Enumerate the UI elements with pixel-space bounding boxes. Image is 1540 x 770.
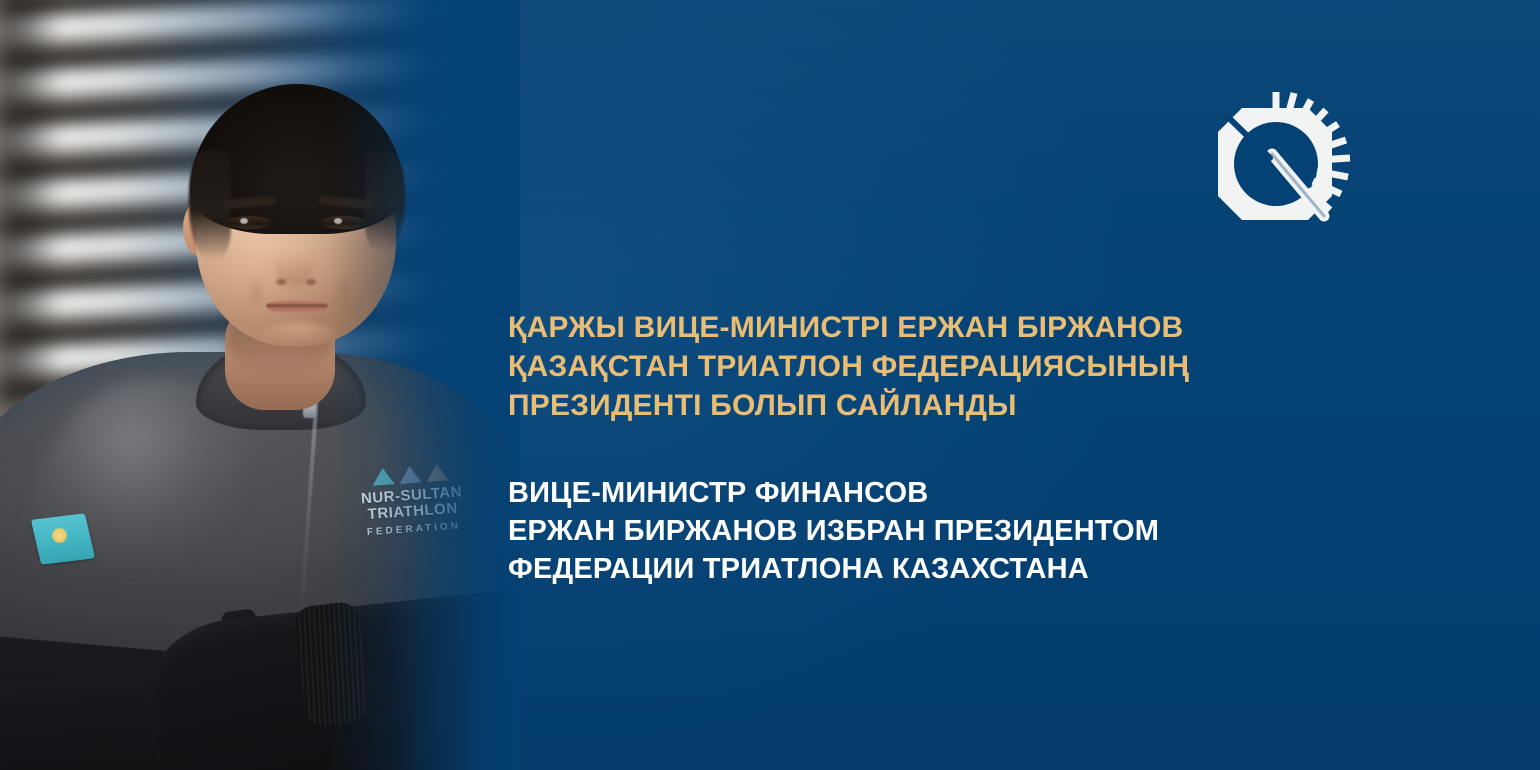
headline-block: ҚАРЖЫ ВИЦЕ-МИНИСТРІ ЕРЖАН БІРЖАНОВ ҚАЗАҚ… bbox=[508, 308, 1268, 588]
headline-kazakh-line-3: ПРЕЗИДЕНТІ БОЛЫП САЙЛАНДЫ bbox=[508, 386, 1268, 425]
eye-highlight-left bbox=[240, 218, 248, 224]
eye-left bbox=[226, 216, 272, 229]
headline-kazakh-line-2: ҚАЗАҚСТАН ТРИАТЛОН ФЕДЕРАЦИЯСЫНЫҢ bbox=[508, 347, 1268, 386]
mouth bbox=[267, 300, 327, 314]
chin bbox=[258, 322, 338, 348]
headline-russian-line-3: ФЕДЕРАЦИИ ТРИАТЛОНА КАЗАХСТАНА bbox=[508, 550, 1268, 588]
photo-gradient-fade bbox=[330, 0, 520, 770]
mouth-line bbox=[266, 304, 328, 307]
headline-kazakh: ҚАРЖЫ ВИЦЕ-МИНИСТРІ ЕРЖАН БІРЖАНОВ ҚАЗАҚ… bbox=[508, 308, 1268, 425]
ministry-of-finance-logo bbox=[1198, 92, 1358, 247]
headline-kazakh-line-1: ҚАРЖЫ ВИЦЕ-МИНИСТРІ ЕРЖАН БІРЖАНОВ bbox=[508, 308, 1268, 347]
headline-russian: ВИЦЕ-МИНИСТР ФИНАНСОВ ЕРЖАН БИРЖАНОВ ИЗБ… bbox=[508, 474, 1268, 588]
nostril-left bbox=[276, 279, 286, 285]
headline-russian-line-1: ВИЦЕ-МИНИСТР ФИНАНСОВ bbox=[508, 474, 1268, 512]
nostril-right bbox=[306, 279, 316, 285]
news-banner: NUR-SULTAN TRIATHLON FEDERATION ҚАРЖЫ ВИ… bbox=[0, 0, 1540, 770]
headline-russian-line-2: ЕРЖАН БИРЖАНОВ ИЗБРАН ПРЕЗИДЕНТОМ bbox=[508, 512, 1268, 550]
portrait-photo: NUR-SULTAN TRIATHLON FEDERATION bbox=[0, 0, 520, 770]
cheek-left bbox=[243, 268, 269, 318]
